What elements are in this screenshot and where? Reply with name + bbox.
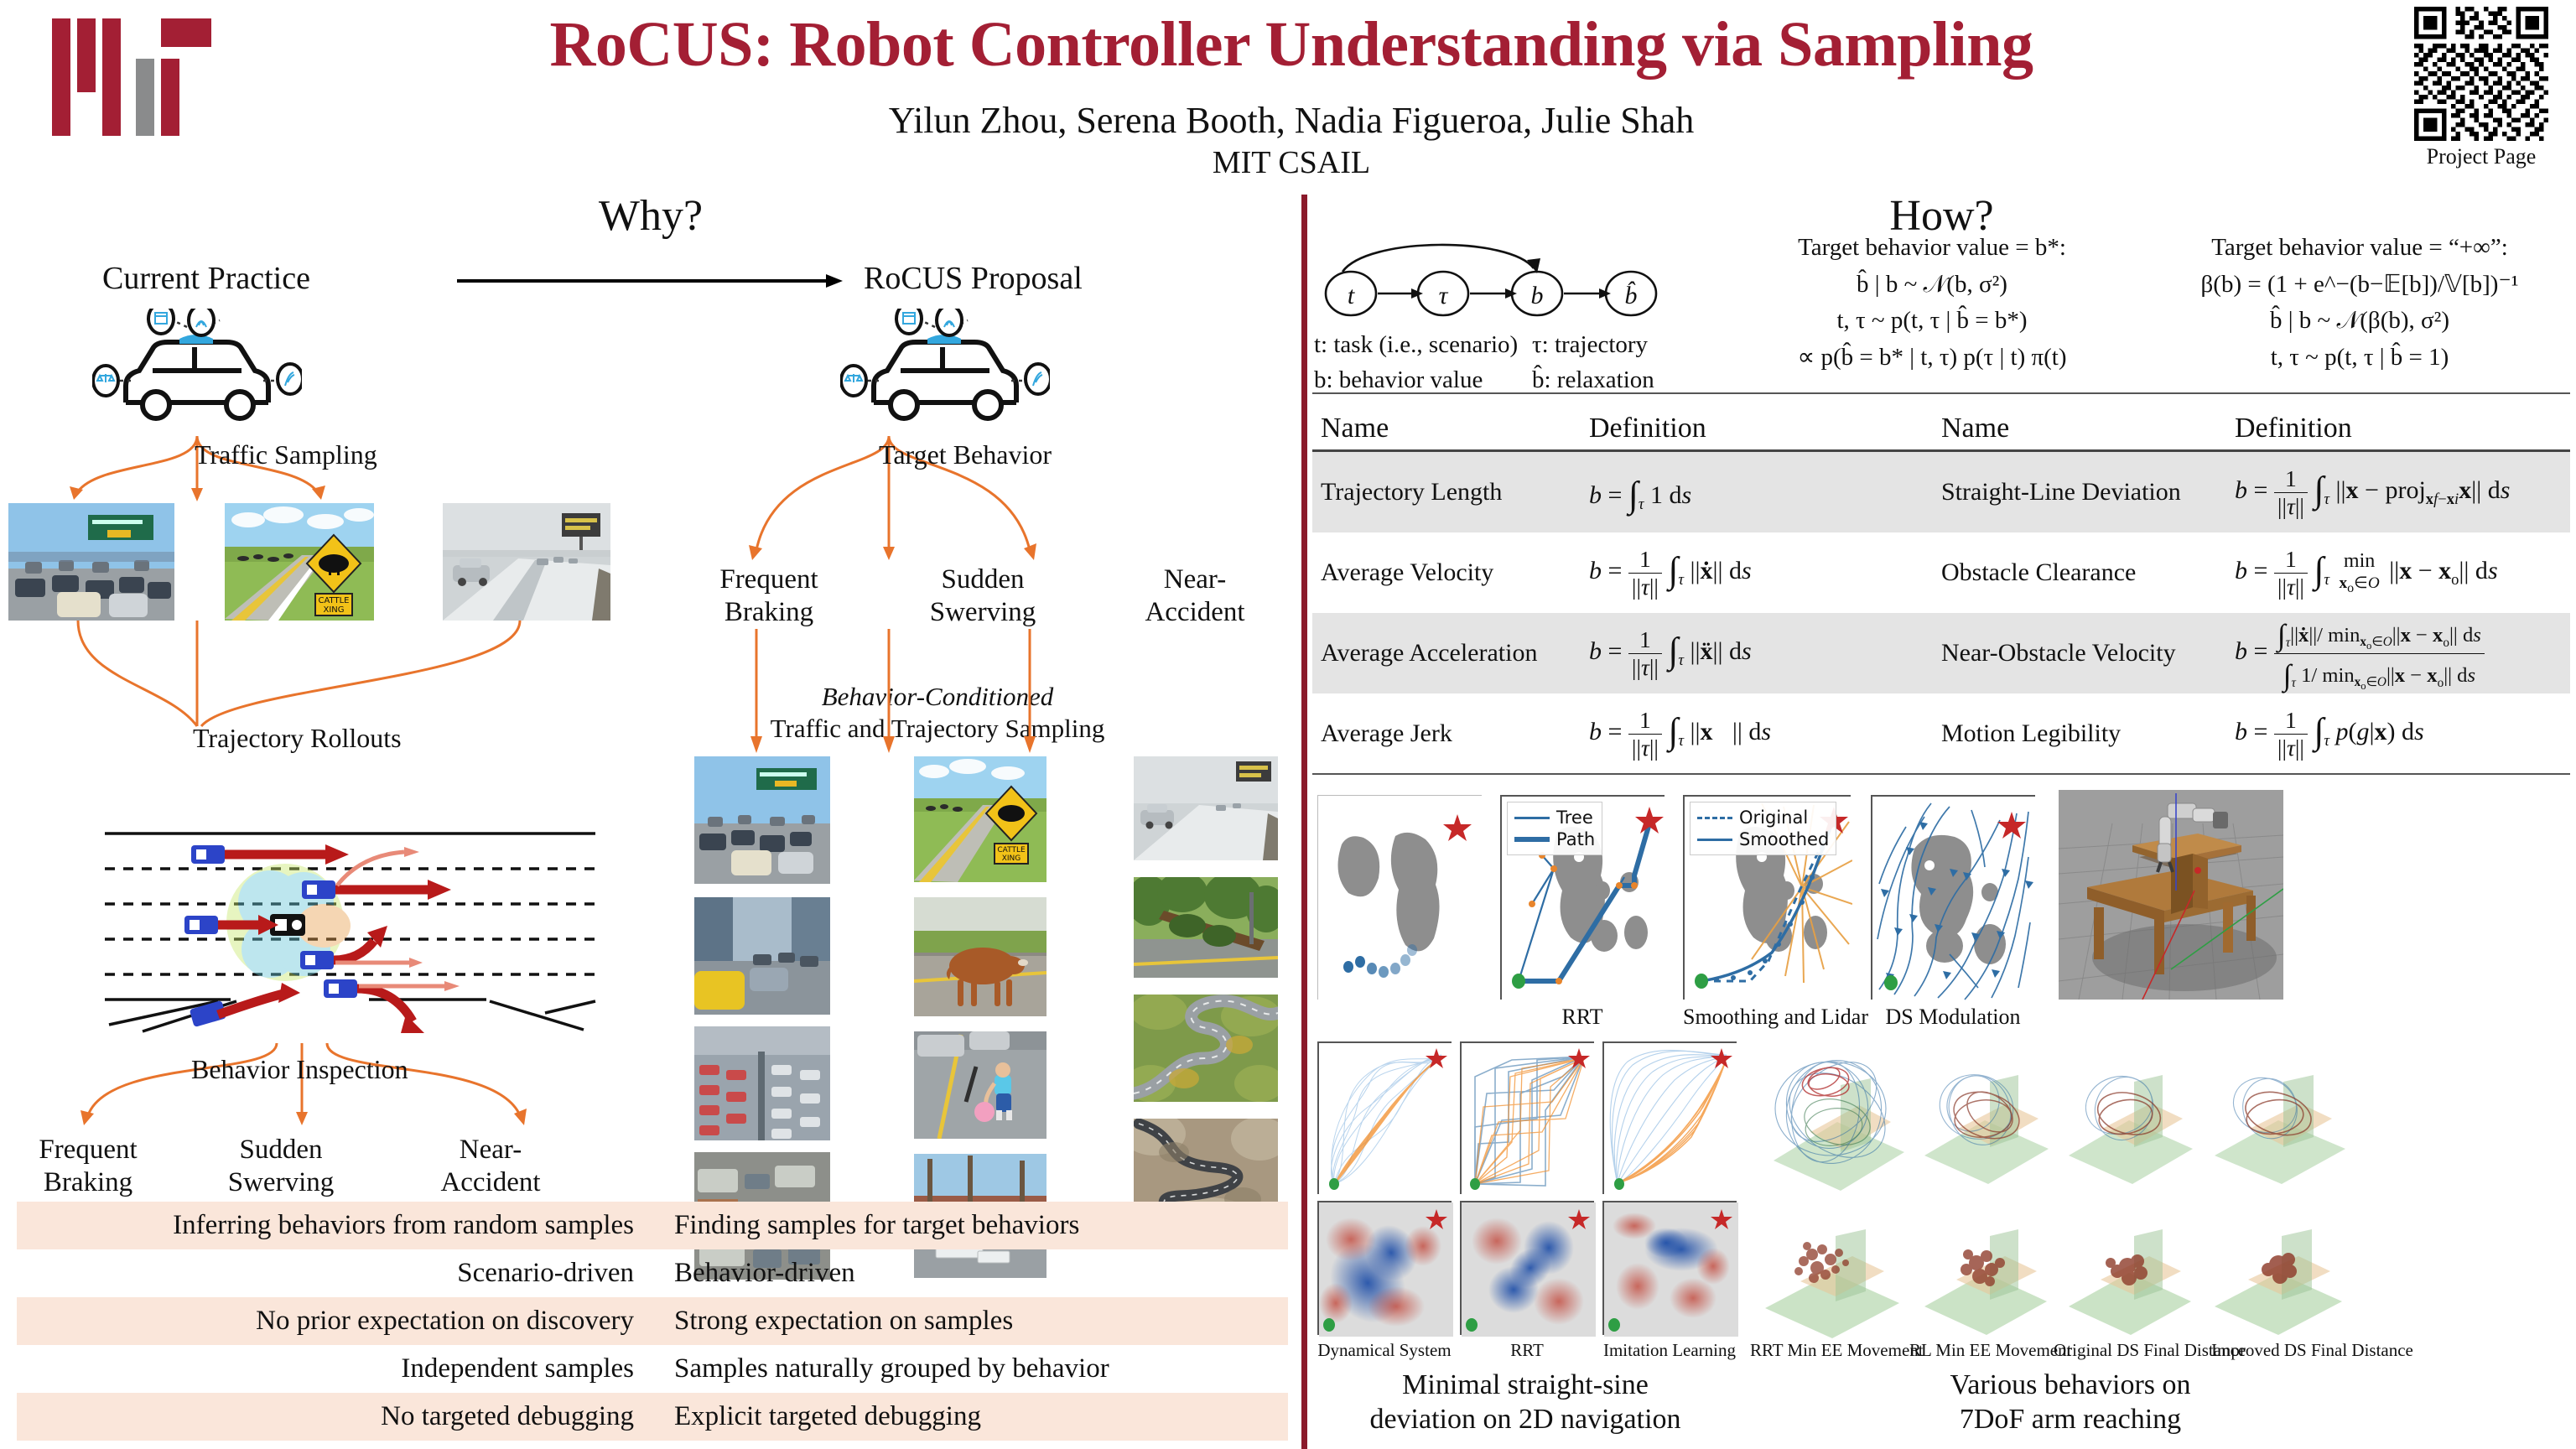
cmp-current-practice: No targeted debugging [17,1401,654,1432]
table-row: Average Velocity b = 1||τ|| ∫τ ||ẋ|| ds … [1312,532,2570,613]
smoothed-line-icon [1697,839,1732,841]
how-section: How? t τ b b̂ [1307,195,2576,1449]
def-formula-motion-legibility: b = 1||τ|| ∫τ p(g|x) ds [2235,707,2570,761]
svg-text:XING: XING [1002,854,1021,863]
arm-density-cloud-2 [1913,1197,2055,1342]
cmp-rocus: Samples naturally grouped by behavior [654,1353,1288,1384]
tree-line-icon [1514,817,1550,819]
legend-label-path: Path [1556,829,1595,849]
th-definition-1: Definition [1589,413,1941,444]
table-row: Scenario-driven Behavior-driven [17,1249,1288,1297]
qr-caption: Project Page [2402,144,2561,169]
th-name-2: Name [1941,413,2235,444]
legend-label-tree: Tree [1556,808,1593,828]
cmp-current-practice: Independent samples [17,1353,654,1384]
project-page-qr-block[interactable]: Project Page [2402,7,2561,169]
svg-text:τ: τ [1439,282,1449,309]
arm-traj-cloud-4 [2201,1035,2352,1194]
arm-density-cloud-1 [1752,1197,1911,1342]
behavior-line2: Braking [8,1166,168,1199]
behavior-line2: Accident [1115,596,1275,629]
table-row: No prior expectation on discovery Strong… [17,1297,1288,1345]
why-section: Why? Current Practice RoCUS Proposal [0,195,1301,1449]
def-name-straight-line-deviation: Straight-Line Deviation [1941,478,2235,506]
comparison-table: Inferring behaviors from random samples … [17,1202,1288,1441]
arm-density-cloud-3 [2057,1197,2199,1342]
def-formula-average-jerk: b = 1||τ|| ∫τ ||x⃛|| ds [1589,707,1941,761]
traffic-scenario-diagram [92,822,612,1048]
def-formula-average-velocity: b = 1||τ|| ∫τ ||ẋ|| ds [1589,546,1941,600]
def-formula-average-acceleration: b = 1||τ|| ∫τ ||ẍ|| ds [1589,626,1941,681]
equations-target-infinity: Target behavior value = “+∞”: β(b) = (1 … [2150,230,2569,376]
caption-improved-ds-final-distance: Improved DS Final Distance [2211,1340,2387,1361]
table-row: Trajectory Length b = ∫τ 1 ds Straight-L… [1312,452,2570,532]
panel-density-dynamical-system [1317,1201,1452,1335]
eq-right-line-3: t, τ ~ p(t, τ | b̂ = 1) [2150,340,2569,377]
cmp-current-practice: Inferring behaviors from random samples [17,1210,654,1241]
eq-left-line-2: t, τ ~ p(t, τ | b̂ = b*) [1727,303,2137,340]
legend-item-original: Original [1697,807,1829,828]
legend-label-smoothed: Smoothed [1739,829,1829,849]
path-line-icon [1514,837,1550,842]
caption-rl-min-ee-movement: RL Min EE Movement [1909,1340,2062,1361]
def-name-average-velocity: Average Velocity [1312,558,1589,587]
th-name-1: Name [1312,413,1589,444]
behavior-line2: Swerving [201,1166,361,1199]
eq-left-title: Target behavior value = b*: [1727,230,2137,267]
eq-right-title: Target behavior value = “+∞”: [2150,230,2569,267]
legend-item-smoothed: Smoothed [1697,828,1829,850]
caption-rrt-density: RRT [1460,1340,1594,1361]
rrt-legend: Tree Path [1507,802,1602,855]
label-behavior-inspection: Behavior Inspection [191,1054,408,1085]
photo-rural-cattle-crossing: CATTLE XING [225,503,374,621]
cmp-rocus: Explicit targeted debugging [654,1401,1288,1432]
vertical-divider [1301,195,1307,1449]
table-row: Average Jerk b = 1||τ|| ∫τ ||x⃛|| ds Mot… [1312,693,2570,774]
table-header-row: Name Definition Name Definition [1312,404,2570,449]
behavior-line1: Frequent [8,1134,168,1166]
behavior-line2: Accident [411,1166,570,1199]
target-behavior-sudden-swerving: Sudden Swerving [899,563,1067,629]
panel-robot-arm-simulation [2059,790,2283,1000]
th-definition-2: Definition [2235,413,2570,444]
label-target-behavior: Target Behavior [879,439,1052,470]
panel-density-imitation-learning [1602,1201,1737,1335]
sample-image-winding-road [1134,995,1278,1102]
behavior-line1: Sudden [201,1134,361,1166]
sample-image-traffic-3 [694,1026,830,1140]
cmp-rocus: Finding samples for target behaviors [654,1210,1288,1241]
svg-text:b̂: b̂ [1625,281,1638,309]
panel-rrt: Tree Path [1500,795,1665,1000]
behavior-line1: Near- [1115,563,1275,596]
why-heading: Why? [0,191,1301,241]
behavior-line2: Braking [689,596,849,629]
behavior-definitions-table: Name Definition Name Definition Trajecto… [1312,404,2570,774]
divider-above-table [1312,392,2570,394]
behavior-line1: Sudden [899,563,1067,596]
eq-right-line-1: β(b) = (1 + e^−(b−𝔼[b])/𝕍[b])⁻¹ [2150,267,2569,304]
legend-bhat: b̂: relaxation [1532,366,1654,393]
table-row: Average Acceleration b = 1||τ|| ∫τ ||ẍ||… [1312,613,2570,693]
photo-snowy-highway [443,503,610,621]
behavior-label-near-accident: Near- Accident [411,1134,570,1199]
label-behavior-conditioned-sampling: Behavior-Conditioned Traffic and Traject… [703,681,1172,745]
big-caption-nav-line2: deviation on 2D navigation [1307,1403,1743,1437]
sample-image-snow-1 [1134,756,1278,860]
label-trajectory-rollouts: Trajectory Rollouts [193,723,402,754]
caption-rrt-min-ee-movement: RRT Min EE Movement [1750,1340,1914,1361]
behavior-line2: Swerving [899,596,1067,629]
sample-image-child-ball [914,1031,1046,1139]
poster-header: RoCUS: Robot Controller Understanding vi… [0,0,2576,195]
sample-image-traffic-2 [694,897,830,1015]
sample-image-cattle-1: CATTLE XING [914,756,1046,882]
label-traffic-sampling: Traffic Sampling [195,439,377,470]
legend-label-original: Original [1739,808,1808,828]
graphical-model-legend: t: task (i.e., scenario)τ: trajectory b:… [1314,327,1654,397]
lidar-legend: Original Smoothed [1690,802,1836,855]
arm-density-cloud-4 [2201,1197,2352,1342]
def-formula-trajectory-length: b = ∫τ 1 ds [1589,470,1941,514]
divider-below-table [1312,773,2570,775]
svg-text:CATTLE: CATTLE [997,846,1026,854]
def-name-near-obstacle-velocity: Near-Obstacle Velocity [1941,639,2235,667]
poster-root: RoCUS: Robot Controller Understanding vi… [0,0,2576,1449]
sample-image-traffic-1 [694,756,830,884]
photo-highway-congestion [8,503,174,621]
panel-density-rrt [1460,1201,1594,1335]
caption-original-ds-final-distance: Original DS Final Distance [2054,1340,2218,1361]
behavior-label-sudden-swerving: Sudden Swerving [201,1134,361,1199]
mit-logo [52,18,220,136]
panel-trajectories-dynamical-system [1317,1041,1452,1194]
caption-imitation-learning: Imitation Learning [1597,1340,1742,1361]
behavior-label-frequent-braking: Frequent Braking [8,1134,168,1199]
legend-t: t: task (i.e., scenario) [1314,327,1532,362]
legend-item-tree: Tree [1514,807,1595,828]
table-row: Independent samples Samples naturally gr… [17,1345,1288,1393]
author-list: Yilun Zhou, Serena Booth, Nadia Figueroa… [335,101,2247,141]
eq-left-line-3: ∝ p(b̂ = b* | t, τ) p(τ | t) π(t) [1727,340,2137,377]
graphical-model-diagram: t τ b b̂ [1317,233,1720,325]
autonomous-car-icon-current-practice [92,309,302,434]
cmp-current-practice: Scenario-driven [17,1258,654,1289]
table-row: Inferring behaviors from random samples … [17,1202,1288,1249]
behavior-line1: Near- [411,1134,570,1166]
caption-rrt: RRT [1500,1005,1665,1030]
svg-text:XING: XING [323,605,344,615]
def-name-trajectory-length: Trajectory Length [1312,478,1589,506]
legend-tau: τ: trajectory [1532,331,1648,358]
target-behavior-near-accident: Near- Accident [1115,563,1275,629]
def-name-average-jerk: Average Jerk [1312,719,1589,748]
def-formula-near-obstacle-velocity: b = ∫τ||ẋ||/ minxo∈O||x − xo|| ds ∫τ 1/ … [2235,614,2570,693]
caption-ds-modulation: DS Modulation [1871,1005,2035,1030]
def-name-average-acceleration: Average Acceleration [1312,639,1589,667]
eq-left-line-1: b̂ | b ~ 𝒩(b, σ²) [1727,267,2137,304]
panel-environment-obstacles [1317,795,1482,1000]
qr-code-icon[interactable] [2414,7,2548,141]
current-practice-label: Current Practice [102,260,310,297]
panel-trajectories-rrt [1460,1041,1594,1194]
caption-dynamical-system: Dynamical System [1312,1340,1457,1361]
cmp-current-practice: No prior expectation on discovery [17,1306,654,1337]
sample-image-fallen-tree [1134,877,1278,978]
affiliation: MIT CSAIL [335,146,2247,181]
def-formula-obstacle-clearance: b = 1||τ|| ∫τ minxo∈O ||x − xo|| ds [2235,546,2570,600]
panel-smoothing-lidar: Original Smoothed [1683,795,1851,1000]
big-caption-nav-line1: Minimal straight-sine [1307,1368,1743,1403]
target-behavior-frequent-braking: Frequent Braking [689,563,849,629]
trajectory-rollouts-branch-arrows [0,621,637,730]
table-row: No targeted debugging Explicit targeted … [17,1393,1288,1441]
sample-image-cattle-2 [914,897,1046,1016]
page-title: RoCUS: Robot Controller Understanding vi… [335,12,2247,79]
def-name-obstacle-clearance: Obstacle Clearance [1941,558,2235,587]
arm-traj-cloud-3 [2057,1035,2199,1194]
original-line-icon [1697,817,1732,819]
big-caption-arm-line2: 7DoF arm reaching [1752,1403,2389,1437]
equations-target-value: Target behavior value = b*: b̂ | b ~ 𝒩(b… [1727,230,2137,376]
arm-traj-cloud-1 [1760,1035,1911,1194]
svg-text:t: t [1348,282,1355,309]
behavior-line1: Frequent [689,563,849,596]
def-formula-straight-line-deviation: b = 1||τ|| ∫τ ||x − projxf−xix|| ds [2235,465,2570,520]
arm-traj-cloud-2 [1913,1035,2055,1194]
caption-smoothing-lidar: Smoothing and Lidar [1683,1005,1851,1030]
svg-text:b: b [1531,282,1544,309]
svg-text:CATTLE: CATTLE [319,596,350,605]
eq-right-line-2: b̂ | b ~ 𝒩(β(b), σ²) [2150,303,2569,340]
behavior-conditioned-italic: Behavior-Conditioned [822,682,1054,711]
big-caption-arm: Various behaviors on 7DoF arm reaching [1752,1368,2389,1437]
big-caption-navigation: Minimal straight-sine deviation on 2D na… [1307,1368,1743,1437]
behavior-conditioned-rest: Traffic and Trajectory Sampling [771,714,1105,743]
panel-ds-modulation [1871,795,2035,1000]
cmp-rocus: Behavior-driven [654,1258,1288,1289]
autonomous-car-icon-rocus-proposal [840,309,1050,434]
panel-trajectories-imitation-learning [1602,1041,1737,1194]
big-caption-arm-line1: Various behaviors on [1752,1368,2389,1403]
title-block: RoCUS: Robot Controller Understanding vi… [335,12,2247,181]
legend-item-path: Path [1514,828,1595,850]
def-name-motion-legibility: Motion Legibility [1941,719,2235,748]
cmp-rocus: Strong expectation on samples [654,1306,1288,1337]
transition-arrow-icon [457,272,843,290]
rocus-proposal-label: RoCUS Proposal [864,260,1083,297]
